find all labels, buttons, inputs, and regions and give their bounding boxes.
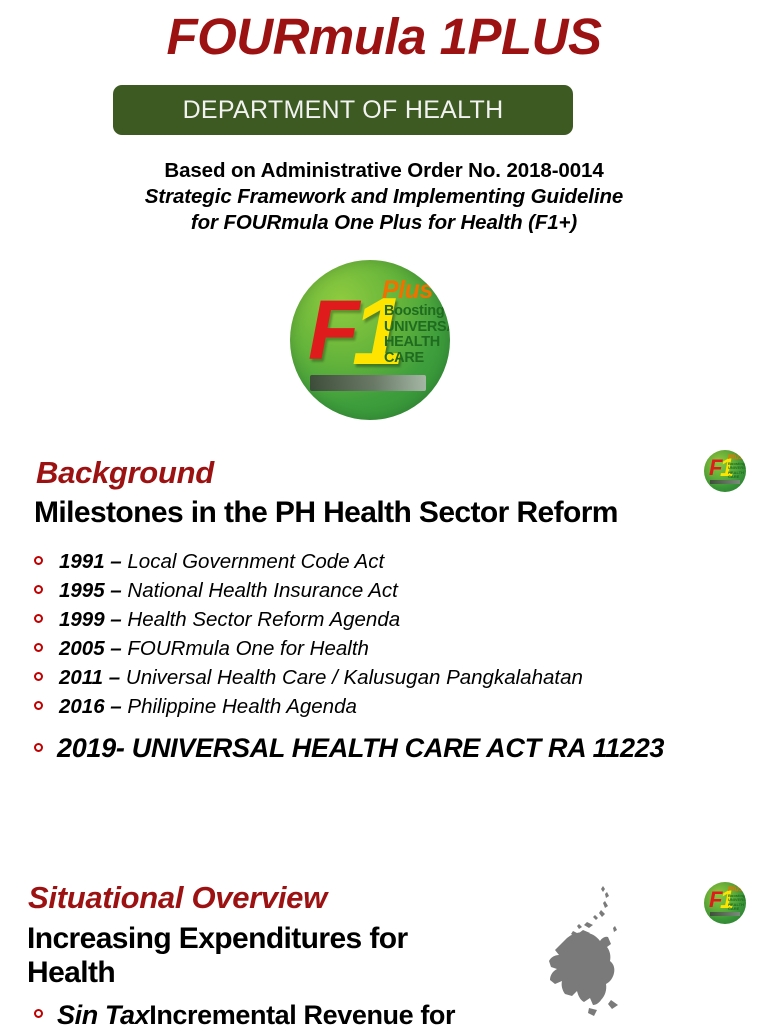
section-heading-expenditures: Increasing Expenditures for Health xyxy=(27,922,497,990)
logo-plus-word: Plus xyxy=(728,454,743,461)
logo-tagline-line-4: CARE xyxy=(728,474,739,479)
milestone-year: 2016 – xyxy=(59,695,127,719)
subtitle-line-2: Strategic Framework and Implementing Gui… xyxy=(0,184,768,210)
f1-plus-logo-small-icon: F 1 Plus Boosting UNIVERSAL HEALTH CARE xyxy=(704,882,746,924)
section-eyebrow-situational: Situational Overview xyxy=(28,880,327,916)
list-item: 1999 – Health Sector Reform Agenda xyxy=(34,608,734,637)
subtitle-block: Based on Administrative Order No. 2018-0… xyxy=(0,158,768,237)
bullet-ring-icon xyxy=(34,672,43,681)
logo-tagline: Boosting UNIVERSAL HEALTH CARE xyxy=(384,304,450,366)
logo-tagline-line-1: Boosting xyxy=(384,303,444,319)
page-title: FOURmula 1PLUS xyxy=(0,8,768,67)
logo-plus-word: Plus xyxy=(382,278,433,303)
bullet-ring-icon xyxy=(34,556,43,565)
bullet-ring-icon xyxy=(34,701,43,710)
bullet-ring-icon xyxy=(34,743,43,752)
milestone-year: 2011 – xyxy=(59,666,126,690)
logo-tagline-line-4: CARE xyxy=(384,350,424,366)
logo-tagline-line-4: CARE xyxy=(728,906,739,911)
slide-one: FOURmula 1PLUS DEPARTMENT OF HEALTH Base… xyxy=(0,0,768,800)
bullet-ring-icon xyxy=(34,614,43,623)
milestone-year: 1999 – xyxy=(59,608,127,632)
f1-plus-logo-small-icon: F 1 Plus Boosting UNIVERSAL HEALTH CARE xyxy=(704,450,746,492)
list-item: 1991 – Local Government Code Act xyxy=(34,550,734,579)
list-item: 2011 – Universal Health Care / Kalusugan… xyxy=(34,666,734,695)
logo-tagline-line-2: UNIVERSAL xyxy=(384,319,450,335)
milestones-list: 1991 – Local Government Code Act 1995 – … xyxy=(34,550,734,773)
f1-plus-logo-large-wrapper: F 1 Plus Boosting UNIVERSAL HEALTH CARE xyxy=(290,260,450,420)
milestone-year: 1991 – xyxy=(59,550,127,574)
milestone-text: Health Sector Reform Agenda xyxy=(127,608,400,632)
bullet-ring-icon xyxy=(34,1009,43,1018)
sin-tax-emphasis: Sin Tax xyxy=(57,1000,149,1031)
section-heading-milestones: Milestones in the PH Health Sector Refor… xyxy=(34,496,618,530)
bullet-ring-icon xyxy=(34,585,43,594)
department-banner-label: DEPARTMENT OF HEALTH xyxy=(183,96,504,125)
sin-tax-rest: Incremental Revenue for xyxy=(149,1000,455,1031)
f1-plus-logo-corner-background-wrapper: F 1 Plus Boosting UNIVERSAL HEALTH CARE xyxy=(704,450,746,492)
milestone-text: National Health Insurance Act xyxy=(127,579,397,603)
list-item: 2005 – FOURmula One for Health xyxy=(34,637,734,666)
department-banner: DEPARTMENT OF HEALTH xyxy=(113,85,573,135)
list-item-highlight: 2019- UNIVERSAL HEALTH CARE ACT RA 11223 xyxy=(34,733,734,773)
list-item: 1995 – National Health Insurance Act xyxy=(34,579,734,608)
milestone-text: Universal Health Care / Kalusugan Pangka… xyxy=(126,666,583,690)
section-eyebrow-background: Background xyxy=(36,455,214,491)
logo-tagline: Boosting UNIVERSAL HEALTH CARE xyxy=(728,894,746,912)
philippines-map-silhouette xyxy=(515,882,685,1024)
milestone-year: 1995 – xyxy=(59,579,127,603)
f1-plus-logo-icon: F 1 Plus Boosting UNIVERSAL HEALTH CARE xyxy=(290,260,450,420)
milestone-year: 2005 – xyxy=(59,637,127,661)
f1-plus-logo-corner-situational-wrapper: F 1 Plus Boosting UNIVERSAL HEALTH CARE xyxy=(704,882,746,924)
milestone-text: Local Government Code Act xyxy=(127,550,384,574)
subtitle-line-3: for FOURmula One Plus for Health (F1+) xyxy=(0,210,768,236)
milestone-text: Philippine Health Agenda xyxy=(127,695,356,719)
logo-tagline-line-3: HEALTH xyxy=(384,334,440,350)
list-item-sin-tax: Sin Tax Incremental Revenue for xyxy=(34,1000,455,1031)
subtitle-line-1: Based on Administrative Order No. 2018-0… xyxy=(0,158,768,184)
milestone-text: FOURmula One for Health xyxy=(127,637,369,661)
logo-plus-word: Plus xyxy=(728,886,743,893)
milestone-text: UNIVERSAL HEALTH CARE ACT RA 11223 xyxy=(132,733,664,764)
bullet-ring-icon xyxy=(34,643,43,652)
list-item: 2016 – Philippine Health Agenda xyxy=(34,695,734,724)
logo-tagline: Boosting UNIVERSAL HEALTH CARE xyxy=(728,462,746,480)
milestone-year: 2019- xyxy=(57,733,132,764)
